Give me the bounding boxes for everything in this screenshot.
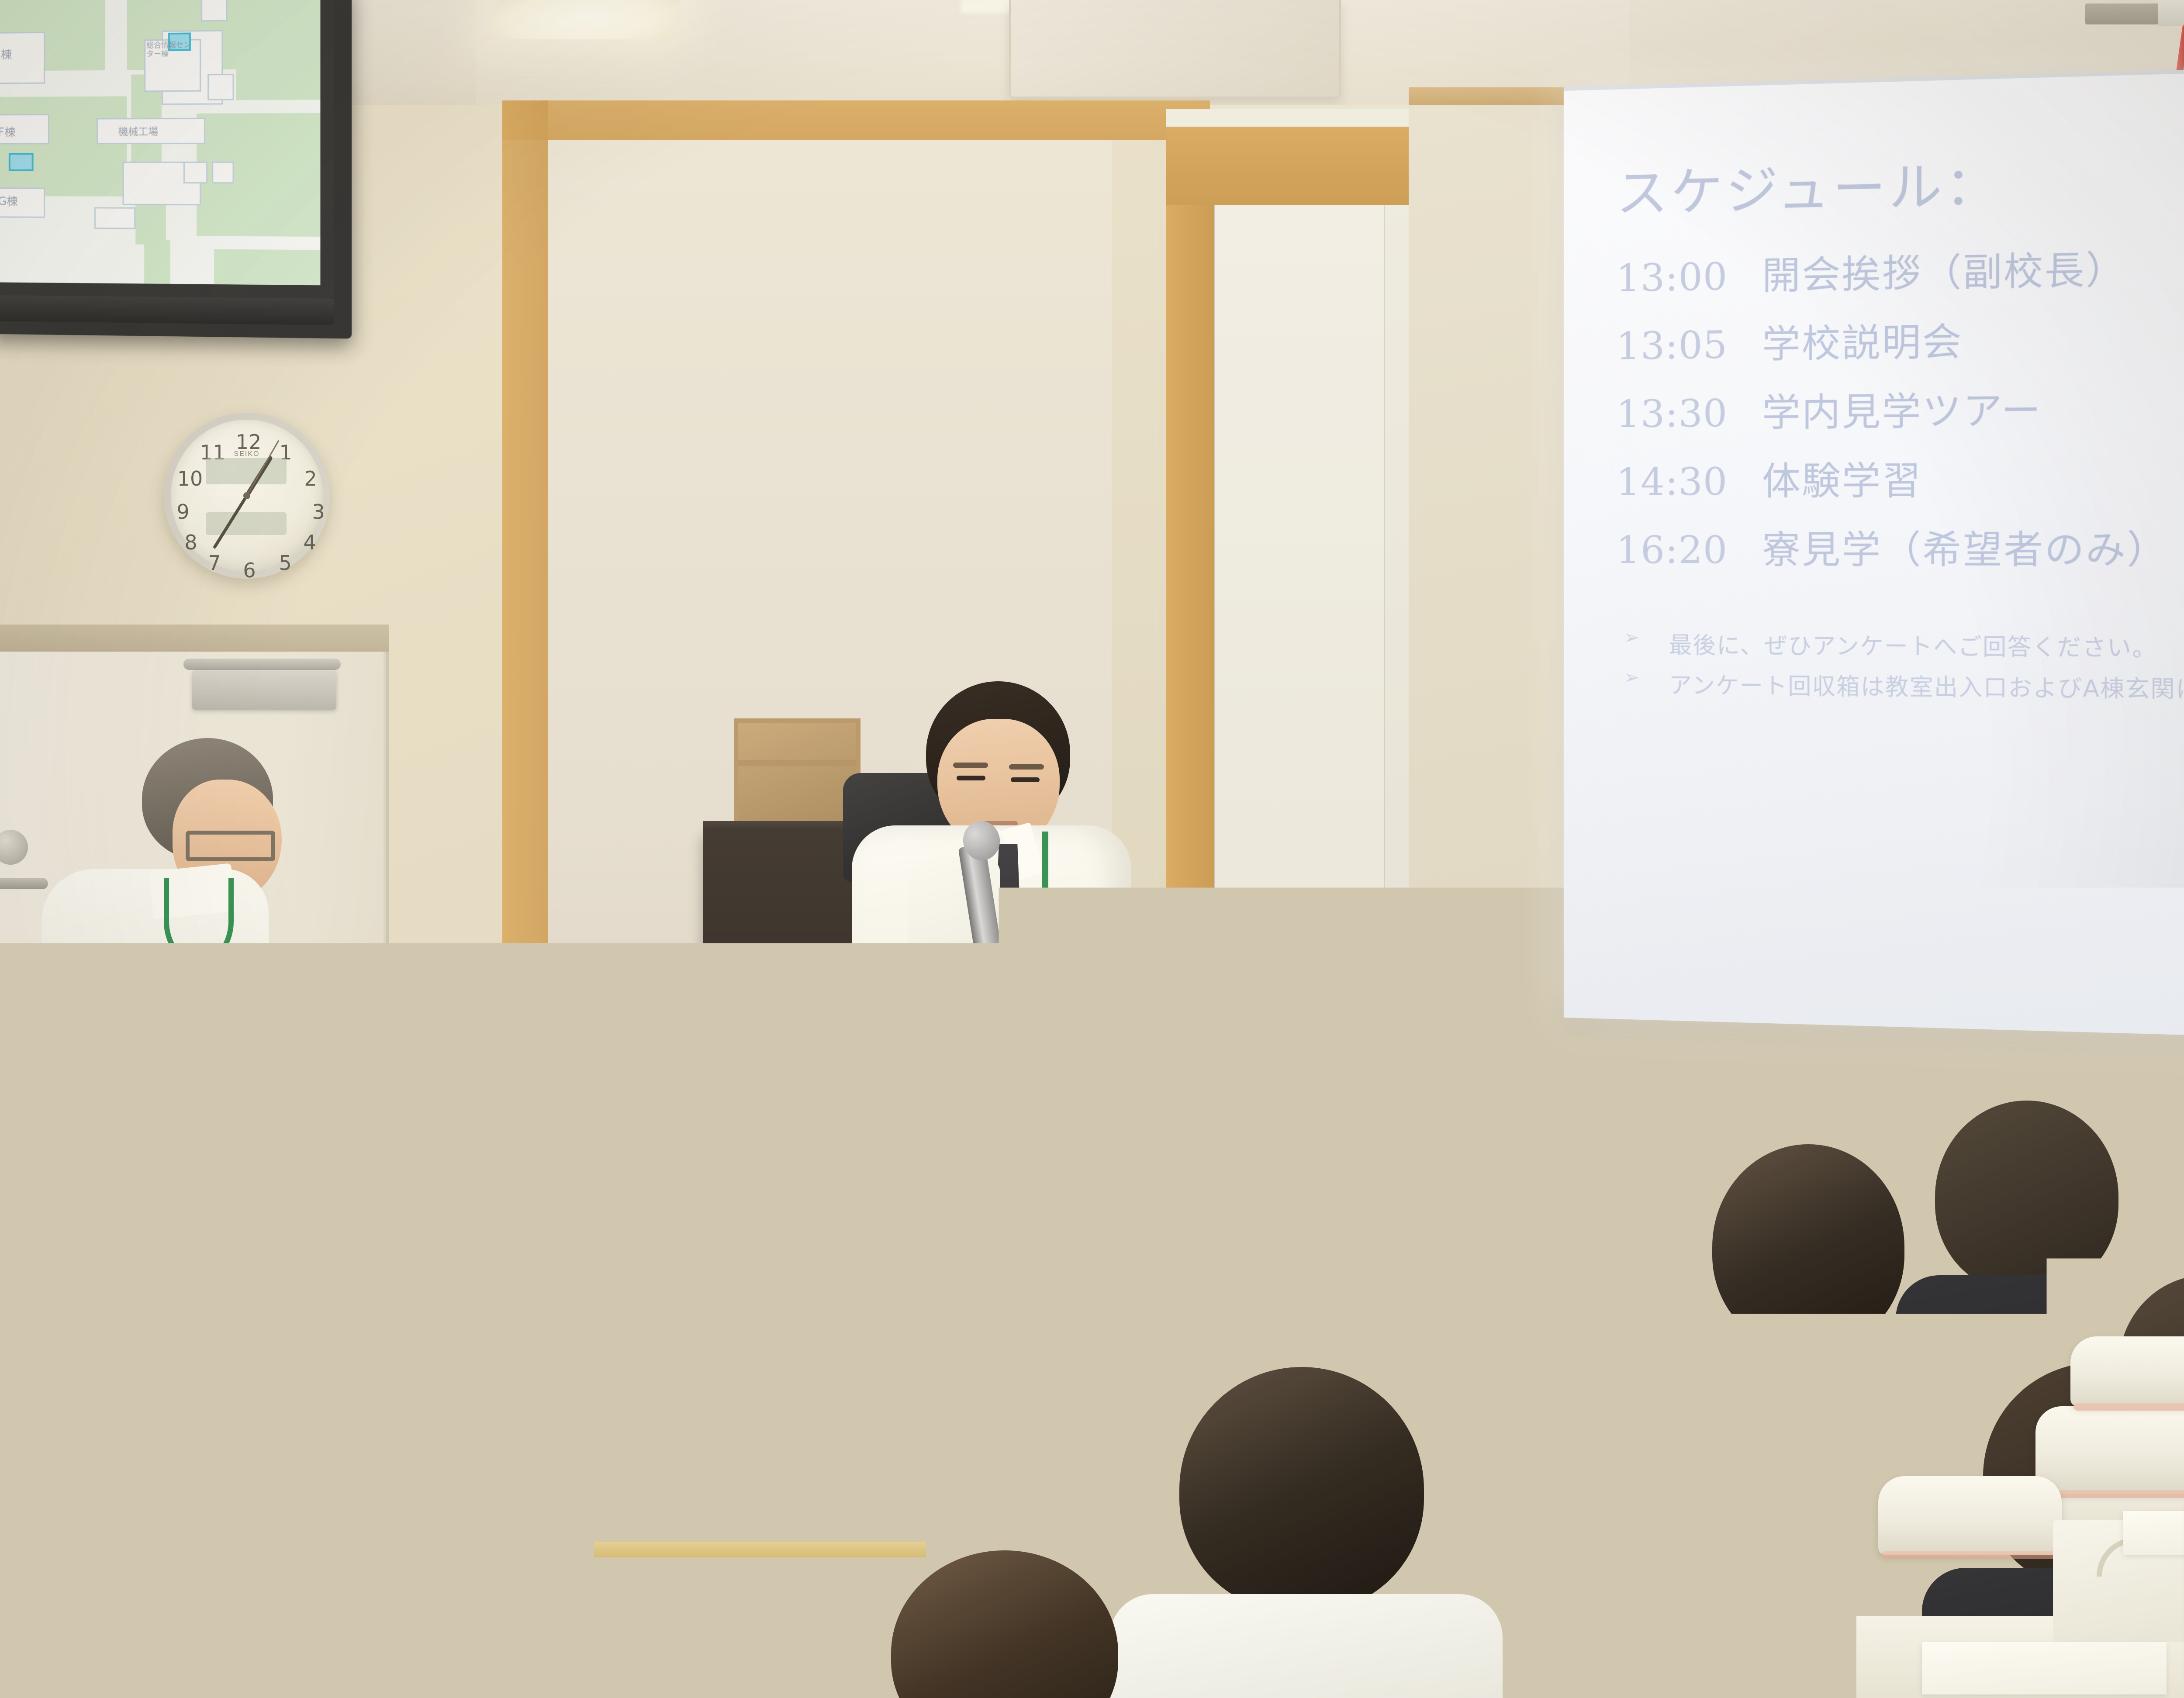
panel-door-header bbox=[1166, 127, 1411, 205]
paper-sheet bbox=[1922, 1642, 2167, 1695]
wall-monitor[interactable]: C棟 図書館棟 E棟 総合情報センター棟 F棟 機械工場 G棟 bbox=[0, 0, 352, 339]
monitor-screen: C棟 図書館棟 E棟 総合情報センター棟 F棟 機械工場 G棟 bbox=[0, 0, 320, 285]
staff-glasses-icon bbox=[186, 831, 275, 861]
ceiling-mount-rail bbox=[2158, 0, 2184, 26]
equipment-stand-head-icon bbox=[553, 1046, 592, 1074]
schedule-row: 13:05 学校説明会 bbox=[1616, 306, 2184, 370]
schedule-item: 体験学習 bbox=[1762, 449, 1922, 506]
monitor-base-strip bbox=[0, 295, 334, 325]
audience-head bbox=[760, 1057, 904, 1210]
tray-object bbox=[592, 1097, 657, 1117]
door-handle-icon[interactable] bbox=[0, 878, 48, 889]
clock-numeral: 2 bbox=[297, 469, 324, 489]
crate-slat bbox=[738, 760, 856, 766]
chair-back[interactable] bbox=[756, 1371, 869, 1446]
schedule-time: 13:00 bbox=[1616, 254, 1762, 300]
audience-head bbox=[1712, 1144, 1904, 1349]
desk-row bbox=[987, 1345, 1214, 1376]
map-label-e: E棟 bbox=[0, 46, 12, 62]
desk-row-edge bbox=[987, 1375, 1214, 1387]
presenter-eye-left bbox=[957, 776, 985, 780]
schedule-item: 開会挨拶（副校長） bbox=[1762, 238, 2127, 300]
audience-torso bbox=[1109, 1594, 1503, 1698]
presenter bbox=[852, 681, 1131, 1044]
projection-surface: スケジュール： 13:00 開会挨拶（副校長） 13:05 学校説明会 13:3… bbox=[1564, 67, 2184, 1038]
desk-row bbox=[594, 1494, 926, 1542]
schedule-time: 16:20 bbox=[1616, 528, 1762, 572]
audience-head bbox=[1179, 1367, 1424, 1612]
schedule-time: 13:30 bbox=[1616, 391, 1762, 437]
panel-door-leaf[interactable] bbox=[1214, 205, 1385, 1232]
chair-back[interactable] bbox=[2070, 1336, 2184, 1406]
clock-numeral: 4 bbox=[297, 532, 323, 552]
note-row: ➢ アンケート回収箱は教室出入口およびA棟玄関に bbox=[1616, 666, 2184, 705]
alcove-jamb bbox=[502, 100, 548, 1118]
door-closer-icon bbox=[192, 670, 336, 710]
audience-head bbox=[236, 1192, 454, 1419]
clock-numeral: 5 bbox=[272, 553, 298, 573]
presenter-brow-left bbox=[953, 763, 988, 768]
schedule-time: 13:05 bbox=[1616, 323, 1762, 369]
schedule-row: 13:30 学内見学ツアー bbox=[1616, 376, 2184, 438]
audience-head bbox=[891, 1550, 1118, 1698]
schedule-row: 14:30 体験学習 bbox=[1616, 447, 2184, 506]
audience-member bbox=[856, 1550, 1162, 1698]
audience-member bbox=[743, 1057, 917, 1336]
schedule-item: 学校説明会 bbox=[1762, 311, 1963, 369]
clock-numeral: 3 bbox=[305, 502, 332, 522]
paper-sheet bbox=[2123, 1511, 2184, 1555]
schedule-time: 14:30 bbox=[1616, 459, 1762, 504]
staff-lanyard bbox=[164, 878, 234, 965]
badge-photo-icon bbox=[1020, 944, 1044, 974]
alcove-header-beam bbox=[502, 100, 1210, 140]
map-label-center: 総合情報センター棟 bbox=[146, 41, 194, 59]
map-label-g: G棟 bbox=[0, 193, 18, 209]
schedule-row: 16:20 寮見学（希望者のみ） bbox=[1616, 518, 2184, 575]
clock-numeral: 6 bbox=[236, 560, 263, 580]
classroom-scene: C棟 図書館棟 E棟 総合情報センター棟 F棟 機械工場 G棟 SEIKO 12… bbox=[0, 0, 2184, 1698]
air-conditioner-vent bbox=[1009, 0, 1341, 98]
bullet-arrow-icon: ➢ bbox=[1616, 627, 1669, 649]
clock-center-pin bbox=[243, 492, 250, 499]
presenter-brow-right bbox=[1009, 764, 1044, 770]
clock-numeral: 8 bbox=[178, 532, 204, 552]
clock-calendar-window-bottom bbox=[206, 512, 287, 535]
wooden-crate bbox=[734, 718, 860, 830]
chair-back[interactable] bbox=[2035, 1406, 2184, 1494]
clock-numeral: 7 bbox=[201, 553, 228, 573]
note-row: ➢ 最後に、ぜひアンケートへご回答ください。 bbox=[1616, 627, 2184, 664]
clock-numeral: 12 bbox=[235, 432, 262, 452]
schedule-item: 学内見学ツアー bbox=[1762, 379, 2042, 437]
desk-row-edge bbox=[594, 1542, 926, 1557]
clock-numeral: 9 bbox=[170, 502, 196, 522]
door-sign bbox=[0, 991, 31, 1092]
note-text: 最後に、ぜひアンケートへご回答ください。 bbox=[1669, 627, 2157, 663]
slide-notes: ➢ 最後に、ぜひアンケートへご回答ください。 ➢ アンケート回収箱は教室出入口お… bbox=[1616, 627, 2184, 705]
chair-back[interactable] bbox=[52, 1529, 280, 1651]
chair-back[interactable] bbox=[1878, 1476, 2062, 1555]
presenter-hand bbox=[961, 961, 1018, 1026]
ceiling-light-panel bbox=[486, 0, 684, 39]
note-text: アンケート回収箱は教室出入口およびA棟玄関に bbox=[1669, 667, 2184, 704]
audience-head bbox=[1935, 1101, 2118, 1293]
wall-clock: SEIKO 12 1 2 3 4 5 6 7 8 9 10 11 bbox=[164, 413, 330, 579]
map-label-f: F棟 bbox=[0, 124, 16, 140]
slide-title: スケジュール： bbox=[1616, 135, 2184, 227]
door-closer-arm-icon bbox=[183, 659, 341, 670]
door-header bbox=[0, 625, 389, 652]
map-label-factory: 機械工場 bbox=[118, 123, 158, 138]
presenter-pen-icon bbox=[1057, 924, 1064, 959]
monitor-bezel: C棟 図書館棟 E棟 総合情報センター棟 F棟 機械工場 G棟 bbox=[0, 0, 334, 299]
clock-face: SEIKO 12 1 2 3 4 5 6 7 8 9 10 11 bbox=[171, 420, 323, 572]
schedule-row: 13:00 開会挨拶（副校長） bbox=[1616, 235, 2184, 303]
clock-calendar-window-top bbox=[206, 458, 287, 484]
schedule-item: 寮見学（希望者のみ） bbox=[1762, 518, 2168, 575]
audience-torso bbox=[734, 1192, 930, 1358]
clock-numeral: 10 bbox=[177, 469, 203, 489]
podium-top-surface bbox=[782, 1022, 1184, 1033]
audience-member bbox=[1109, 1367, 1468, 1698]
projection-screen: スケジュール： 13:00 開会挨拶（副校長） 13:05 学校説明会 13:3… bbox=[1564, 67, 2184, 1038]
presenter-eye-right bbox=[1011, 777, 1040, 782]
slide-content: スケジュール： 13:00 開会挨拶（副校長） 13:05 学校説明会 13:3… bbox=[1564, 67, 2184, 1038]
bullet-arrow-icon: ➢ bbox=[1616, 666, 1669, 688]
